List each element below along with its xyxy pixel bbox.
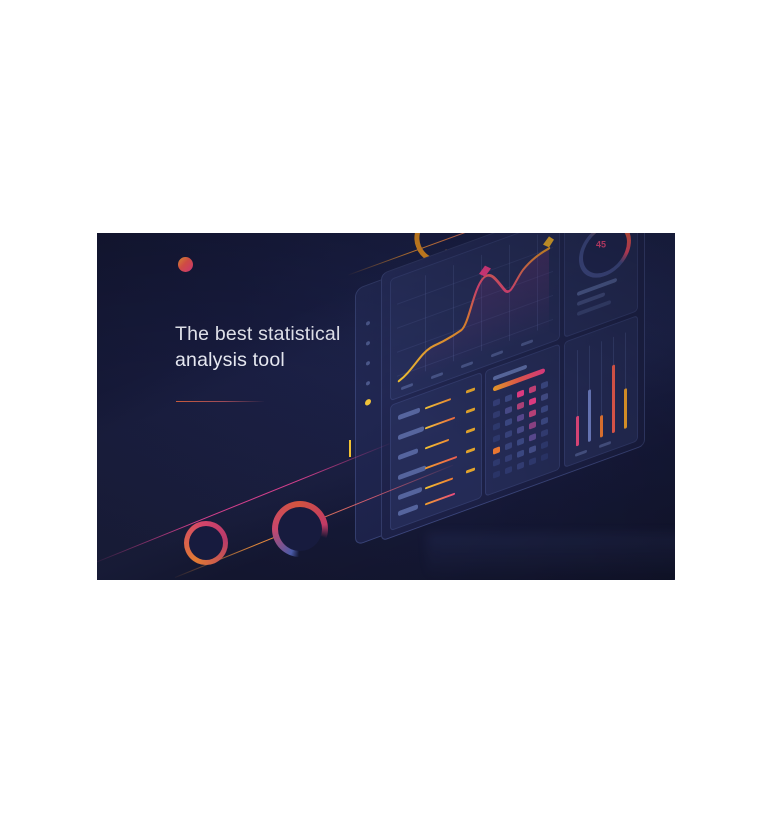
- heatmap-cell: [505, 454, 512, 463]
- heatmap-cell: [517, 461, 524, 470]
- person-hair-highlight: [671, 573, 675, 580]
- list-item-sparkline: [425, 456, 457, 470]
- heatmap-cell: [505, 442, 512, 451]
- heatmap-cell: [529, 409, 536, 418]
- kpi-value: 45: [579, 239, 623, 249]
- list-item: [398, 407, 420, 420]
- axis-label-chip: [575, 450, 587, 457]
- list-item: [398, 487, 422, 501]
- heatmap-cell: [505, 466, 512, 475]
- heatmap-cell: [517, 425, 524, 434]
- bar: [576, 415, 579, 446]
- heatmap-cell: [493, 398, 500, 407]
- heatmap-cell: [529, 421, 536, 430]
- heatmap-cell: [493, 434, 500, 443]
- list-item-sparkline: [425, 439, 449, 450]
- kpi-bar: [577, 278, 617, 297]
- bar: [612, 364, 615, 433]
- axis-label-chip: [599, 441, 611, 448]
- rail-dot-icon: [366, 361, 370, 366]
- heatmap-cell: [505, 406, 512, 415]
- heatmap-cell: [517, 437, 524, 446]
- heatmap-cell: [541, 429, 548, 438]
- list-item-value: [466, 427, 475, 433]
- rail-active-dot-icon: [365, 398, 371, 406]
- page-root: The best statistical analysis tool: [0, 0, 773, 830]
- list-item-sparkline: [425, 417, 455, 430]
- heatmap-cell: [541, 441, 548, 450]
- heatmap-cell: [541, 381, 548, 390]
- heatmap-cell: [541, 417, 548, 426]
- heatmap-cell: [505, 418, 512, 427]
- chart-marker-yellow: [543, 235, 554, 250]
- heatmap-cell: [493, 458, 500, 467]
- gradient-ring-icon: [272, 501, 328, 557]
- list-item: [398, 426, 424, 440]
- list-item-value: [466, 447, 475, 453]
- rail-dot-icon: [366, 341, 370, 346]
- heatmap-cell: [529, 445, 536, 454]
- heatmap-cell: [505, 394, 512, 403]
- heatmap-cell: [529, 385, 536, 394]
- heatmap-accent-bar: [493, 368, 545, 392]
- heatmap-cell: [517, 449, 524, 458]
- heatmap-cell: [529, 433, 536, 442]
- rail-dot-icon: [366, 381, 370, 386]
- bar: [624, 388, 627, 429]
- bar-chart-panel: [564, 315, 638, 468]
- list-item-sparkline: [425, 493, 455, 506]
- list-item-value: [466, 467, 475, 473]
- heatmap-cell: [529, 397, 536, 406]
- person-hair: [671, 572, 675, 580]
- heatmap-cell: [517, 389, 524, 398]
- heatmap-cell: [493, 410, 500, 419]
- bar: [588, 389, 591, 442]
- person-illustration: [637, 570, 675, 580]
- yellow-tick-marker: [349, 440, 351, 457]
- gradient-ring-icon: [184, 521, 228, 565]
- list-item: [398, 504, 418, 516]
- list-item-value: [466, 407, 475, 413]
- heatmap-cell: [493, 470, 500, 479]
- rail-dot-icon: [366, 321, 370, 326]
- heatmap-cell: [541, 393, 548, 402]
- heatmap-cell: [541, 453, 548, 462]
- heatmap-cell: [493, 446, 500, 455]
- list-item: [398, 448, 418, 460]
- title-underline: [176, 401, 264, 402]
- heatmap-cell: [517, 401, 524, 410]
- heatmap-cell: [493, 422, 500, 431]
- heatmap-cell: [529, 457, 536, 466]
- heatmap-cell: [517, 413, 524, 422]
- list-item-sparkline: [425, 398, 451, 409]
- heatmap-cell: [505, 430, 512, 439]
- list-item-value: [466, 387, 475, 393]
- heatmap-panel: [485, 343, 560, 496]
- hero-banner-card: The best statistical analysis tool: [97, 233, 675, 580]
- list-item-sparkline: [425, 477, 453, 489]
- bar: [600, 415, 603, 438]
- heatmap-cell: [541, 405, 548, 414]
- gradient-dot-icon: [178, 257, 193, 272]
